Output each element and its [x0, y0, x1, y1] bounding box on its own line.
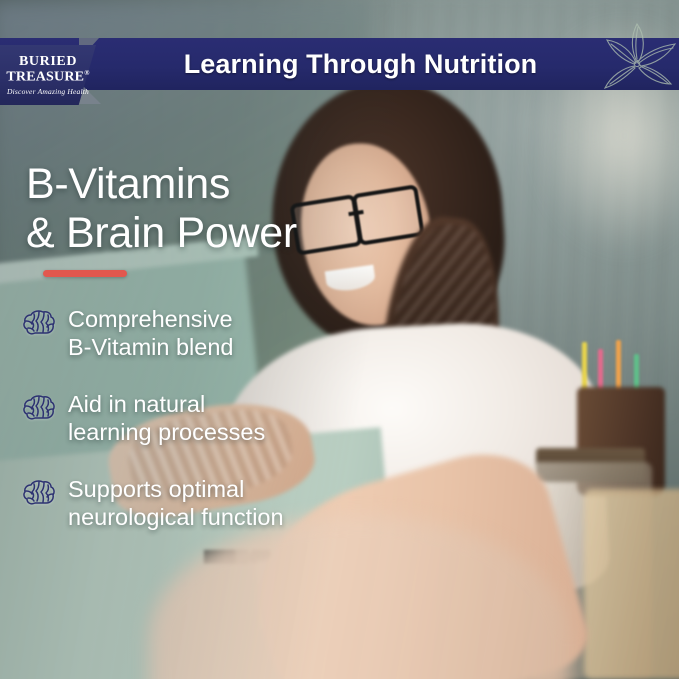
headline-line-2: & Brain Power	[26, 209, 356, 258]
list-item-text: Comprehensive B-Vitamin blend	[68, 303, 233, 362]
benefit-2-line-2: learning processes	[68, 418, 265, 446]
brand-logo-line1: BURIED	[19, 55, 77, 69]
benefit-3-line-2: neurological function	[68, 503, 284, 531]
benefit-2-line-1: Aid in natural	[68, 390, 265, 418]
promo-image: Learning Through Nutrition BURIED TREASU…	[0, 0, 679, 679]
list-item: Aid in natural learning processes	[22, 388, 362, 447]
brain-icon	[22, 388, 68, 422]
registered-trademark-icon: ®	[84, 69, 89, 77]
banner-title: Learning Through Nutrition	[0, 38, 679, 90]
headline-line-1: B-Vitamins	[26, 160, 356, 209]
brand-logo: BURIED TREASURE® Discover Amazing Health	[0, 45, 96, 105]
list-item: Comprehensive B-Vitamin blend	[22, 303, 362, 362]
brand-logo-line2: TREASURE®	[6, 70, 89, 85]
page-title: B-Vitamins & Brain Power	[26, 160, 356, 258]
benefits-list: Comprehensive B-Vitamin blend	[22, 303, 362, 558]
brain-icon	[22, 303, 68, 337]
accent-divider	[43, 270, 127, 277]
brand-logo-line2-text: TREASURE	[6, 70, 84, 85]
benefit-1-line-1: Comprehensive	[68, 305, 233, 333]
list-item: Supports optimal neurological function	[22, 473, 362, 532]
list-item-text: Aid in natural learning processes	[68, 388, 265, 447]
benefit-1-line-2: B-Vitamin blend	[68, 333, 233, 361]
list-item-text: Supports optimal neurological function	[68, 473, 284, 532]
brand-logo-tagline: Discover Amazing Health	[7, 88, 89, 96]
benefit-3-line-1: Supports optimal	[68, 475, 284, 503]
brain-icon	[22, 473, 68, 507]
